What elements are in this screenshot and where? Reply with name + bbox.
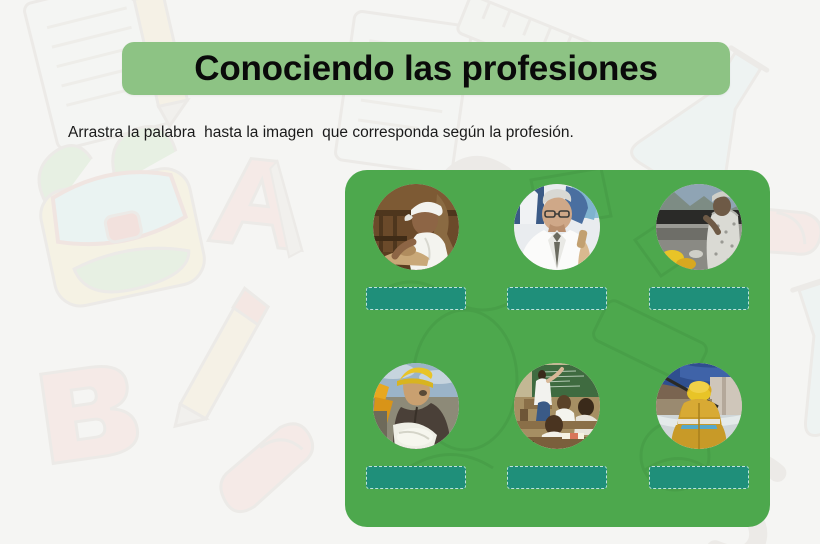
activity-cell-recycler <box>640 184 758 310</box>
activity-cell-doctor <box>498 184 616 310</box>
page-title: Conociendo las profesiones <box>194 49 658 89</box>
letter-a-doodle <box>207 155 310 258</box>
dropzone-teacher[interactable] <box>507 466 607 489</box>
photo-carpenter[interactable] <box>373 184 459 270</box>
instruction-text: Arrastra la palabra hasta la imagen que … <box>68 124 574 142</box>
activity-cell-carpenter <box>357 184 475 310</box>
activity-cell-firefighter <box>640 363 758 489</box>
backpack-doodle <box>27 120 209 310</box>
dropzone-doctor[interactable] <box>507 287 607 310</box>
photo-engineer[interactable] <box>373 363 459 449</box>
dropzone-engineer[interactable] <box>366 466 466 489</box>
dropzone-carpenter[interactable] <box>366 287 466 310</box>
pencil-doodle <box>133 283 301 435</box>
flask-doodle <box>764 268 820 439</box>
photo-teacher[interactable] <box>514 363 600 449</box>
activity-cell-teacher <box>498 363 616 489</box>
letter-b-doodle <box>41 362 141 463</box>
dropzone-firefighter[interactable] <box>649 466 749 489</box>
activity-panel <box>345 170 770 527</box>
activity-row-1 <box>345 184 770 310</box>
photo-recycler[interactable] <box>656 184 742 270</box>
photo-doctor[interactable] <box>514 184 600 270</box>
page-title-banner: Conociendo las profesiones <box>122 42 730 95</box>
dropzone-recycler[interactable] <box>649 287 749 310</box>
photo-firefighter[interactable] <box>656 363 742 449</box>
eraser-doodle <box>215 422 319 514</box>
activity-cell-engineer <box>357 363 475 489</box>
activity-row-2 <box>345 363 770 489</box>
